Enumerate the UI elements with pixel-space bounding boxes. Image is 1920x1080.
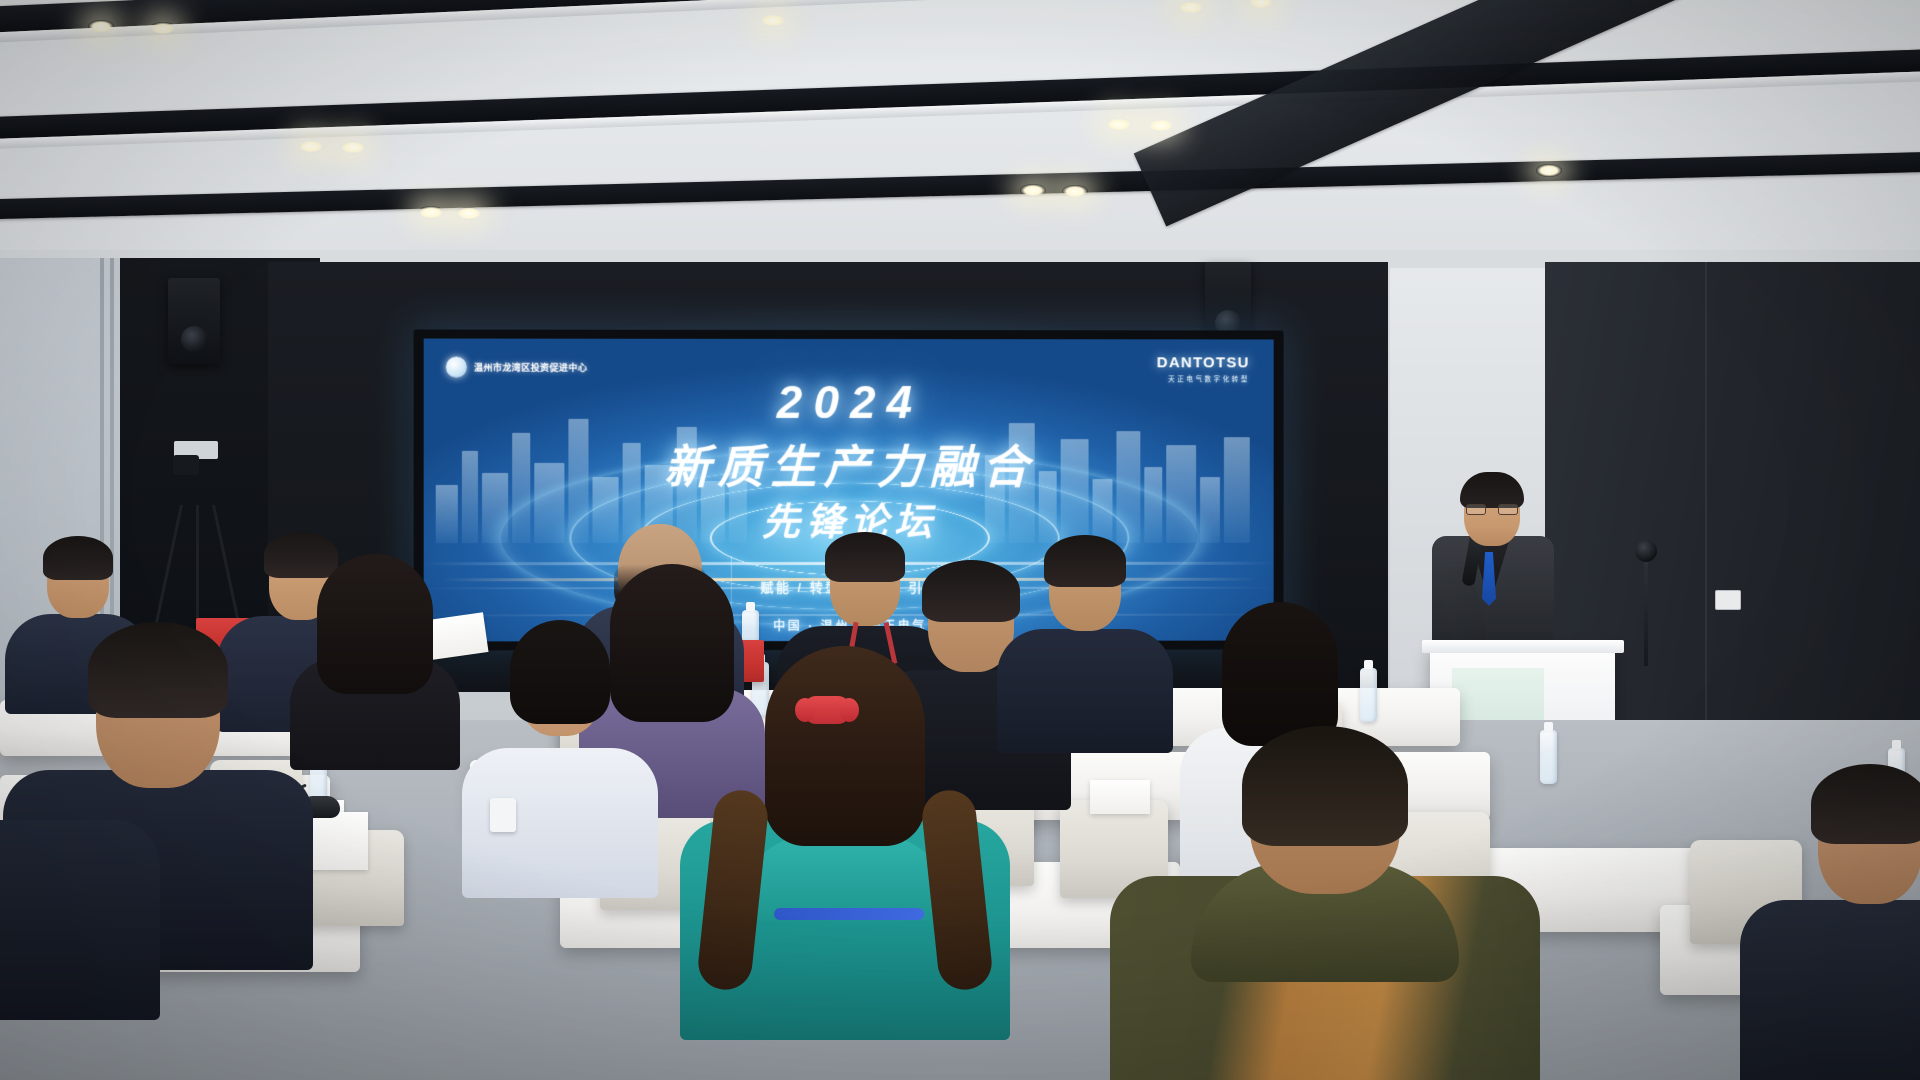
downlight-icon [456,207,482,220]
attendee [1140,690,1510,1080]
downlight-icon [1106,118,1132,131]
ceiling-strip-angled [1134,0,1916,227]
attendee [0,700,140,1000]
downlight-icon [760,14,786,27]
downlight-icon [1248,0,1274,9]
slide-year: 2024 [424,375,1274,430]
downlight-icon [1536,164,1562,177]
attendee [300,548,450,738]
attendee [480,620,640,850]
downlight-icon [340,141,366,154]
downlight-icon [1148,119,1174,132]
podium-top-surface [1422,640,1624,653]
slide-logo-left-label: 温州市龙湾区投资促进中心 [474,361,587,374]
attendee [1760,760,1920,1080]
slide-title: 新质生产力融合 [424,431,1274,497]
conference-hall-scene: 温州市龙湾区投资促进中心 DANTOTSU 天正电气数字化转型 2024 新质生… [0,0,1920,1080]
wall-socket [1715,590,1741,610]
camera-tripod [168,455,228,625]
attendee [1010,535,1160,725]
downlight-icon [150,22,176,35]
downlight-icon [1178,1,1204,14]
glasses-icon [1466,504,1518,515]
tripod-head [173,455,199,475]
ceiling-strip [0,48,1920,140]
hair-bow [804,696,850,724]
av-speaker-left [168,278,220,364]
gooseneck-microphone [1644,554,1648,666]
ceiling-strip [0,151,1920,220]
presenter-hair [1460,472,1524,508]
downlight-icon [1020,184,1046,197]
downlight-icon [298,140,324,153]
downlight-icon [418,206,444,219]
downlight-icon [1062,185,1088,198]
name-badge [490,798,516,832]
downlight-icon [88,20,114,33]
attendee [700,640,990,1000]
hoodie-drawstring [774,908,924,920]
water-bottle [1540,730,1557,784]
slide-brand-name: DANTOTSU [1157,354,1250,371]
